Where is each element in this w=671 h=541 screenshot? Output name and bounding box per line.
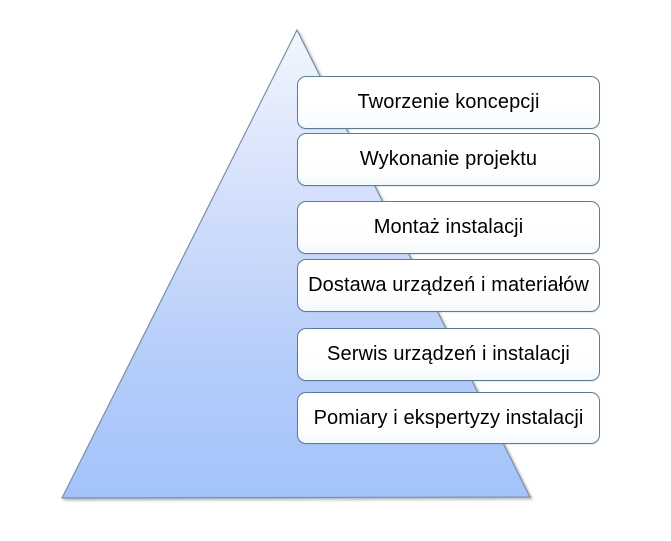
pyramid-diagram-canvas: Tworzenie koncepcji Wykonanie projektu M… [0, 0, 671, 541]
pyramid-level-4[interactable]: Dostawa urządzeń i materiałów [297, 259, 600, 312]
pyramid-level-6[interactable]: Pomiary i ekspertyzy instalacji [297, 392, 600, 444]
pyramid-level-1[interactable]: Tworzenie koncepcji [297, 76, 600, 129]
pyramid-level-2[interactable]: Wykonanie projektu [297, 133, 600, 186]
pyramid-level-3-label: Montaż instalacji [308, 216, 589, 239]
pyramid-level-5[interactable]: Serwis urządzeń i instalacji [297, 328, 600, 381]
pyramid-level-2-label: Wykonanie projektu [308, 148, 589, 171]
pyramid-level-6-label: Pomiary i ekspertyzy instalacji [308, 407, 589, 430]
pyramid-level-3[interactable]: Montaż instalacji [297, 201, 600, 254]
pyramid-level-1-label: Tworzenie koncepcji [308, 91, 589, 114]
pyramid-level-4-label: Dostawa urządzeń i materiałów [308, 274, 589, 297]
pyramid-level-5-label: Serwis urządzeń i instalacji [308, 343, 589, 366]
